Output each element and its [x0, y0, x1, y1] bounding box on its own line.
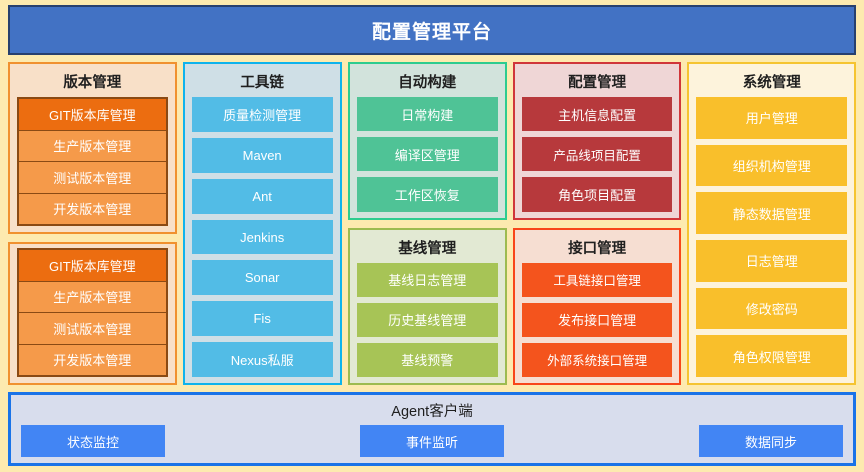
list-item[interactable]: 质量检测管理	[192, 97, 333, 132]
agent-client-bar: Agent客户端 状态监控 事件监听 数据同步	[8, 392, 856, 466]
list-item[interactable]: 历史基线管理	[357, 303, 498, 337]
group-items: 质量检测管理 Maven Ant Jenkins Sonar Fis Nexus…	[192, 97, 333, 377]
diagram-canvas: 配置管理平台 版本管理 GIT版本库管理 生产版本管理 测试版本管理 开发版本管…	[0, 0, 864, 472]
group-interface-management: 接口管理 工具链接口管理 发布接口管理 外部系统接口管理	[513, 228, 682, 386]
list-item[interactable]: 测试版本管理	[19, 162, 166, 193]
list-item[interactable]: 日志管理	[696, 240, 847, 282]
list-item[interactable]: 主机信息配置	[522, 97, 673, 131]
list-item[interactable]: Sonar	[192, 260, 333, 295]
list-item[interactable]: 角色项目配置	[522, 177, 673, 211]
list-item[interactable]: 产品线项目配置	[522, 137, 673, 171]
group-title: 配置管理	[522, 68, 673, 97]
group-baseline-management: 基线管理 基线日志管理 历史基线管理 基线预警	[348, 228, 507, 386]
list-item[interactable]: 外部系统接口管理	[522, 343, 673, 377]
list-item[interactable]: Nexus私服	[192, 342, 333, 377]
list-item[interactable]: Maven	[192, 138, 333, 173]
data-sync-button[interactable]: 数据同步	[699, 425, 843, 457]
group-items: GIT版本库管理 生产版本管理 测试版本管理 开发版本管理	[17, 97, 168, 226]
list-item[interactable]: GIT版本库管理	[19, 250, 166, 281]
group-toolchain: 工具链 质量检测管理 Maven Ant Jenkins Sonar Fis N…	[183, 62, 342, 385]
group-items: 日常构建 编译区管理 工作区恢复	[357, 97, 498, 212]
list-item[interactable]: 角色权限管理	[696, 335, 847, 377]
list-item[interactable]: 发布接口管理	[522, 303, 673, 337]
list-item[interactable]: 生产版本管理	[19, 131, 166, 162]
list-item[interactable]: GIT版本库管理	[19, 99, 166, 130]
group-auto-build: 自动构建 日常构建 编译区管理 工作区恢复	[348, 62, 507, 220]
group-title: 工具链	[192, 68, 333, 97]
list-item[interactable]: 日常构建	[357, 97, 498, 131]
list-item[interactable]: 组织机构管理	[696, 145, 847, 187]
group-items: GIT版本库管理 生产版本管理 测试版本管理 开发版本管理	[17, 248, 168, 377]
column-version-management: 版本管理 GIT版本库管理 生产版本管理 测试版本管理 开发版本管理 GIT版本…	[8, 62, 177, 385]
group-items: 主机信息配置 产品线项目配置 角色项目配置	[522, 97, 673, 212]
list-item[interactable]: 开发版本管理	[19, 194, 166, 225]
group-title: 接口管理	[522, 234, 673, 263]
group-title: 版本管理	[17, 68, 168, 97]
list-item[interactable]: 开发版本管理	[19, 345, 166, 376]
agent-buttons: 状态监控 事件监听 数据同步	[15, 425, 849, 457]
list-item[interactable]: Fis	[192, 301, 333, 336]
list-item[interactable]: 修改密码	[696, 288, 847, 330]
column-toolchain: 工具链 质量检测管理 Maven Ant Jenkins Sonar Fis N…	[183, 62, 342, 385]
group-items: 用户管理 组织机构管理 静态数据管理 日志管理 修改密码 角色权限管理	[696, 97, 847, 377]
list-item[interactable]: 工具链接口管理	[522, 263, 673, 297]
list-item[interactable]: Jenkins	[192, 220, 333, 255]
group-system-management: 系统管理 用户管理 组织机构管理 静态数据管理 日志管理 修改密码 角色权限管理	[687, 62, 856, 385]
group-items: 工具链接口管理 发布接口管理 外部系统接口管理	[522, 263, 673, 378]
column-build: 自动构建 日常构建 编译区管理 工作区恢复 基线管理 基线日志管理 历史基线管理…	[348, 62, 507, 385]
agent-client-title: Agent客户端	[15, 398, 849, 425]
list-item[interactable]: Ant	[192, 179, 333, 214]
list-item[interactable]: 基线日志管理	[357, 263, 498, 297]
group-version-management-secondary: GIT版本库管理 生产版本管理 测试版本管理 开发版本管理	[8, 242, 177, 385]
columns-container: 版本管理 GIT版本库管理 生产版本管理 测试版本管理 开发版本管理 GIT版本…	[8, 62, 856, 385]
list-item[interactable]: 静态数据管理	[696, 192, 847, 234]
list-item[interactable]: 测试版本管理	[19, 313, 166, 344]
group-title: 基线管理	[357, 234, 498, 263]
list-item[interactable]: 用户管理	[696, 97, 847, 139]
column-configuration: 配置管理 主机信息配置 产品线项目配置 角色项目配置 接口管理 工具链接口管理 …	[513, 62, 682, 385]
event-listener-button[interactable]: 事件监听	[360, 425, 504, 457]
group-configuration-management: 配置管理 主机信息配置 产品线项目配置 角色项目配置	[513, 62, 682, 220]
group-title: 系统管理	[696, 68, 847, 97]
column-system-management: 系统管理 用户管理 组织机构管理 静态数据管理 日志管理 修改密码 角色权限管理	[687, 62, 856, 385]
group-items: 基线日志管理 历史基线管理 基线预警	[357, 263, 498, 378]
list-item[interactable]: 编译区管理	[357, 137, 498, 171]
status-monitor-button[interactable]: 状态监控	[21, 425, 165, 457]
list-item[interactable]: 工作区恢复	[357, 177, 498, 211]
list-item[interactable]: 基线预警	[357, 343, 498, 377]
page-title: 配置管理平台	[8, 5, 856, 55]
group-title: 自动构建	[357, 68, 498, 97]
list-item[interactable]: 生产版本管理	[19, 282, 166, 313]
group-version-management: 版本管理 GIT版本库管理 生产版本管理 测试版本管理 开发版本管理	[8, 62, 177, 234]
